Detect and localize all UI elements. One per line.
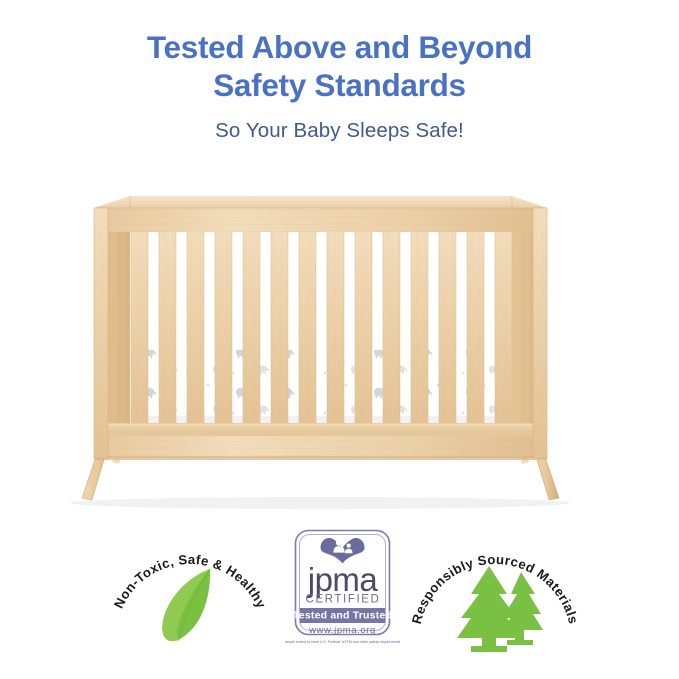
jpma-wordmark: jpma (307, 561, 379, 598)
page-subtitle: So Your Baby Sleeps Safe! (0, 118, 679, 144)
headline-line-1: Tested Above and Beyond (147, 29, 532, 65)
certification-badges: Non-Toxic, Safe & Healthy (0, 520, 679, 670)
page-title: Tested Above and Beyond Safety Standards (0, 28, 679, 104)
floor-shadow (70, 497, 570, 509)
badge-responsibly-sourced: Responsibly Sourced Materials (405, 520, 585, 660)
product-image-crib (0, 180, 679, 510)
jpma-fine-print: sample tested to meet U.S. Federal, ASTM… (285, 640, 400, 644)
heading-block: Tested Above and Beyond Safety Standards… (0, 28, 679, 144)
headline-line-2: Safety Standards (213, 67, 466, 103)
trees-icon (457, 566, 543, 652)
jpma-band-text: Tested and Trusted (293, 610, 392, 622)
badge-jpma-certified: jpma CERTIFIED Tested and Trusted www.jp… (285, 525, 400, 653)
crib-base-rail (94, 423, 547, 460)
crib-top-rail (94, 196, 547, 232)
jpma-url[interactable]: www.jpma.org (308, 625, 376, 636)
badge-non-toxic: Non-Toxic, Safe & Healthy (100, 520, 280, 660)
jpma-certified-label: CERTIFIED (306, 594, 381, 606)
leaf-icon (162, 569, 210, 641)
